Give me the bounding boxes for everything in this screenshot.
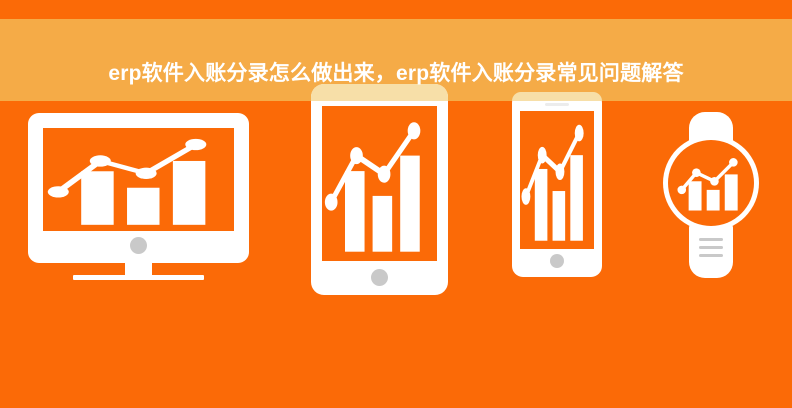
smartwatch-illustration: [663, 112, 759, 278]
watch-band-line: [699, 238, 723, 241]
monitor-screen: [43, 128, 234, 231]
phone-home-button[interactable]: [550, 254, 564, 268]
watch-screen: [668, 140, 754, 226]
watch-band-line: [699, 246, 723, 249]
monitor-bezel: [28, 113, 249, 263]
monitor-power-button[interactable]: [130, 237, 147, 254]
bar-line-chart-icon: [668, 140, 754, 226]
phone-banner-overlap-tint: [512, 92, 602, 101]
phone-screen: [520, 111, 594, 249]
desktop-monitor-illustration: [28, 113, 249, 280]
tablet-banner-overlap-tint: [311, 84, 448, 101]
bar-line-chart-icon: [322, 106, 437, 261]
page-root: erp软件入账分录怎么做出来，erp软件入账分录常见问题解答: [0, 0, 792, 408]
bar-line-chart-icon: [43, 128, 234, 231]
tablet-home-button[interactable]: [371, 269, 388, 286]
tablet-screen: [322, 106, 437, 261]
phone-speaker-icon: [545, 103, 569, 106]
watch-band-line: [699, 254, 723, 257]
monitor-stand-base: [73, 275, 204, 280]
bar-line-chart-icon: [520, 111, 594, 249]
watch-case: [663, 135, 759, 231]
smartphone-illustration: [512, 92, 602, 277]
tablet-illustration: [311, 84, 448, 295]
